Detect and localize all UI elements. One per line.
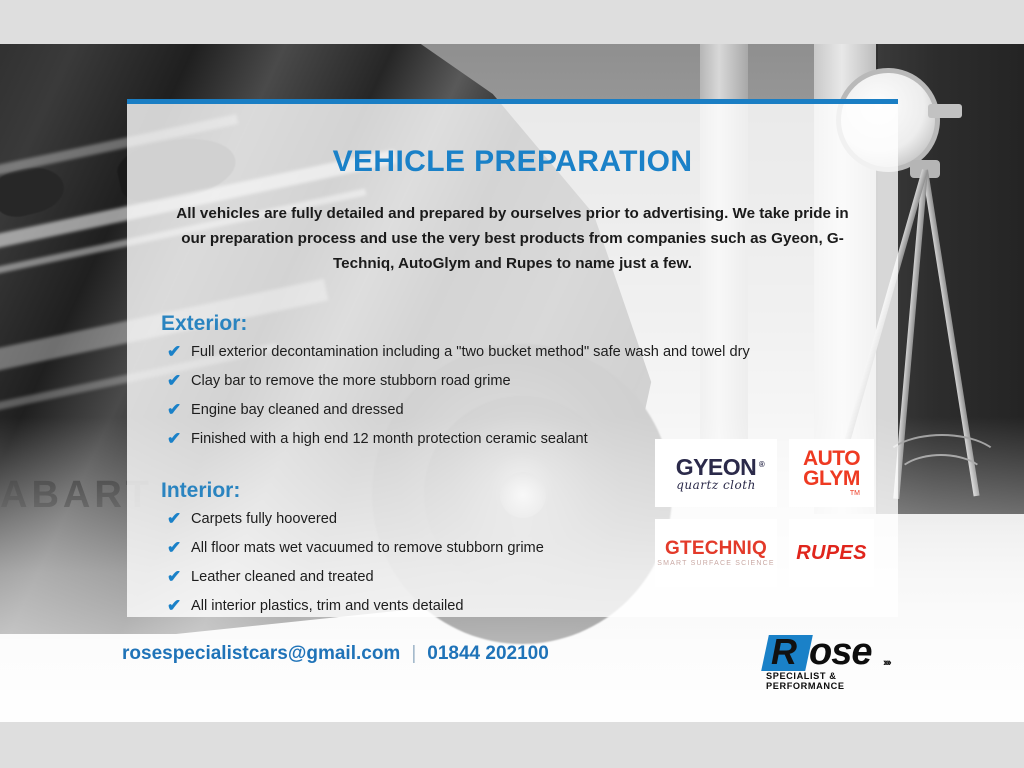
list-item-label: Clay bar to remove the more stubborn roa… (191, 371, 511, 391)
slide-stage: ABART VEHICLE PREPARATION All vehicles a… (0, 0, 1024, 768)
contact-details: rosespecialistcars@gmail.com | 01844 202… (122, 643, 549, 665)
section-exterior: Exterior: ✔ Full exterior decontaminatio… (127, 312, 898, 449)
gtechniq-wordmark: GTECHNIQ (665, 539, 767, 559)
gtechniq-tagline: SMART SURFACE SCIENCE (657, 560, 775, 567)
rose-logo-wordmark: ose (809, 632, 871, 672)
brand-logo-autoglym: AUTO GLYM TM (789, 439, 874, 507)
rose-logo-tagline: SPECIALIST & PERFORMANCE (766, 671, 910, 691)
page-title: VEHICLE PREPARATION (127, 145, 898, 179)
check-icon: ✔ (167, 400, 191, 420)
letterbox-bar-bottom (0, 722, 1024, 768)
list-item-label: Full exterior decontamination including … (191, 342, 750, 362)
brand-logo-gyeon: GYEON® quartz cloth (655, 439, 777, 507)
speed-lines-icon: ›››› (883, 657, 890, 669)
list-item-label: All floor mats wet vacuumed to remove st… (191, 538, 544, 558)
list-item-label: All interior plastics, trim and vents de… (191, 596, 464, 616)
section-heading-exterior: Exterior: (161, 312, 898, 336)
card-inner: VEHICLE PREPARATION All vehicles are ful… (127, 104, 898, 617)
registered-mark: ® (759, 453, 764, 477)
email-link[interactable]: rosespecialistcars@gmail.com (122, 643, 400, 665)
list-item-label: Carpets fully hoovered (191, 509, 337, 529)
rupes-wordmark: RUPES (796, 542, 866, 565)
list-item-label: Engine bay cleaned and dressed (191, 400, 404, 420)
phone-link[interactable]: 01844 202100 (427, 643, 549, 665)
autoglym-line-2: GLYM (803, 469, 860, 489)
check-icon: ✔ (167, 509, 191, 529)
check-icon: ✔ (167, 538, 191, 558)
check-icon: ✔ (167, 429, 191, 449)
gyeon-name: GYEON (676, 454, 757, 480)
contact-separator: | (411, 643, 416, 665)
letterbox-bar-top (0, 0, 1024, 44)
list-item: ✔ Engine bay cleaned and dressed (167, 400, 898, 420)
content-card: VEHICLE PREPARATION All vehicles are ful… (127, 99, 898, 617)
brand-logo-rupes: RUPES (789, 519, 874, 587)
footer: rosespecialistcars@gmail.com | 01844 202… (0, 617, 1024, 722)
intro-paragraph: All vehicles are fully detailed and prep… (168, 201, 858, 276)
autoglym-line-1: AUTO (803, 449, 860, 469)
rose-logo: R ose ›››› SPECIALIST & PERFORMANCE (765, 635, 910, 687)
trademark-mark: TM (850, 490, 860, 497)
list-item: ✔ Full exterior decontamination includin… (167, 342, 898, 362)
check-icon: ✔ (167, 371, 191, 391)
brand-logo-grid: GYEON® quartz cloth AUTO GLYM TM GTECHNI… (655, 439, 877, 594)
rose-logo-letter: R (771, 633, 797, 671)
list-item-label: Finished with a high end 12 month protec… (191, 429, 588, 449)
brand-logo-gtechniq: GTECHNIQ SMART SURFACE SCIENCE (655, 519, 777, 587)
list-item-label: Leather cleaned and treated (191, 567, 374, 587)
check-icon: ✔ (167, 567, 191, 587)
gyeon-wordmark: GYEON® (676, 455, 757, 479)
exterior-list: ✔ Full exterior decontamination includin… (127, 342, 898, 449)
check-icon: ✔ (167, 596, 191, 616)
check-icon: ✔ (167, 342, 191, 362)
gyeon-tagline: quartz cloth (676, 478, 756, 492)
list-item: ✔ Clay bar to remove the more stubborn r… (167, 371, 898, 391)
list-item: ✔ All interior plastics, trim and vents … (167, 596, 898, 616)
